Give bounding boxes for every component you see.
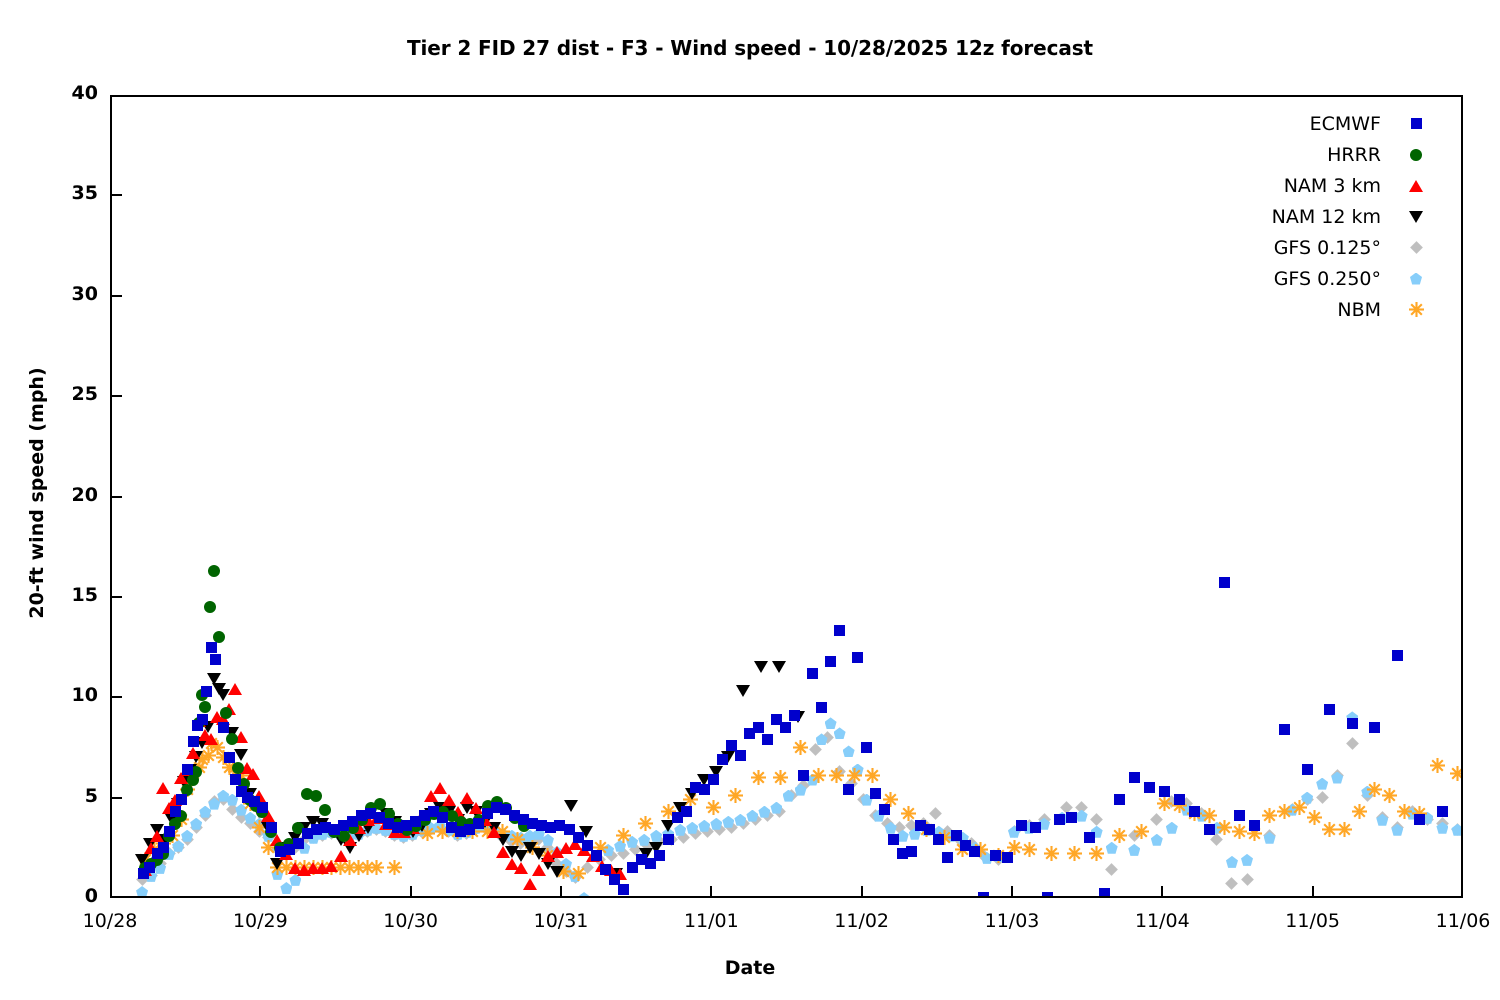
data-point-ecmwf <box>1129 772 1140 783</box>
data-point-nam-12-km <box>772 661 786 673</box>
data-point-gfs-0-125 <box>1090 813 1103 826</box>
data-point-gfs-0-250 <box>190 818 202 830</box>
data-point-gfs-0-125 <box>1316 791 1329 804</box>
x-axis-tick <box>861 886 863 898</box>
x-axis-tick <box>560 886 562 898</box>
data-point-ecmwf <box>699 784 710 795</box>
data-point-nbm <box>1089 846 1104 861</box>
data-point-hrrr <box>226 733 238 745</box>
data-point-ecmwf <box>1302 764 1313 775</box>
data-point-nbm <box>728 788 743 803</box>
data-point-ecmwf <box>1114 794 1125 805</box>
chart-legend: ECMWFHRRRNAM 3 kmNAM 12 kmGFS 0.125°GFS … <box>1150 108 1425 325</box>
data-point-nam-3-km <box>514 862 528 874</box>
data-point-ecmwf <box>708 774 719 785</box>
legend-marker-circle-icon <box>1407 146 1425 164</box>
data-point-ecmwf <box>206 642 217 653</box>
data-point-ecmwf <box>888 834 899 845</box>
data-point-ecmwf <box>188 736 199 747</box>
data-point-nam-3-km <box>442 794 456 806</box>
legend-label: GFS 0.125° <box>1274 237 1407 259</box>
data-point-ecmwf <box>1174 794 1185 805</box>
legend-item-ecmwf[interactable]: ECMWF <box>1150 108 1425 139</box>
data-point-gfs-0-250 <box>674 824 686 836</box>
x-axis-tick <box>1011 886 1013 898</box>
data-point-ecmwf <box>1204 824 1215 835</box>
data-point-nbm <box>1337 822 1352 837</box>
data-point-ecmwf <box>990 850 1001 861</box>
legend-label: NBM <box>1337 299 1407 321</box>
data-point-ecmwf <box>789 710 800 721</box>
data-point-gfs-0-250 <box>698 820 710 832</box>
data-point-ecmwf <box>1144 782 1155 793</box>
data-point-ecmwf <box>1002 852 1013 863</box>
y-axis-tick-label: 15 <box>36 584 98 606</box>
x-axis-tick-label: 10/30 <box>356 910 466 932</box>
data-point-ecmwf <box>969 846 980 857</box>
data-point-gfs-0-250 <box>734 814 746 826</box>
data-point-gfs-0-250 <box>843 745 855 757</box>
data-point-nbm <box>1450 766 1461 781</box>
data-point-nbm <box>1217 820 1232 835</box>
data-point-gfs-0-250 <box>578 892 590 896</box>
data-point-gfs-0-250 <box>825 717 837 729</box>
data-point-ecmwf <box>906 846 917 857</box>
data-point-ecmwf <box>942 852 953 863</box>
data-point-gfs-0-250 <box>746 810 758 822</box>
data-point-hrrr <box>208 565 220 577</box>
data-point-nbm <box>387 860 402 875</box>
data-point-gfs-0-250 <box>1166 822 1178 834</box>
data-point-ecmwf <box>843 784 854 795</box>
data-point-nbm <box>751 770 766 785</box>
data-point-ecmwf <box>879 804 890 815</box>
x-axis-tick-label: 11/03 <box>957 910 1067 932</box>
data-point-nam-12-km <box>234 749 248 761</box>
y-axis-tick-label: 35 <box>36 182 98 204</box>
data-point-nam-3-km <box>186 747 200 759</box>
data-point-ecmwf <box>762 734 773 745</box>
data-point-ecmwf <box>1437 806 1448 817</box>
data-point-gfs-0-250 <box>1151 834 1163 846</box>
data-point-nam-3-km <box>334 850 348 862</box>
legend-label: NAM 12 km <box>1272 206 1407 228</box>
x-axis-tick-label: 11/04 <box>1107 910 1217 932</box>
data-point-nbm <box>369 860 384 875</box>
data-point-ecmwf <box>717 754 728 765</box>
wind-speed-scatter-chart: Tier 2 FID 27 dist - F3 - Wind speed - 1… <box>0 0 1500 1000</box>
y-axis-tick-label: 0 <box>36 885 98 907</box>
data-point-nbm <box>1352 804 1367 819</box>
data-point-ecmwf <box>1159 786 1170 797</box>
data-point-gfs-0-125 <box>1241 874 1254 887</box>
data-point-hrrr <box>220 707 232 719</box>
y-axis-tick <box>110 194 122 196</box>
data-point-gfs-0-125 <box>1105 864 1118 877</box>
data-point-ecmwf <box>933 834 944 845</box>
data-point-nbm <box>865 768 880 783</box>
data-point-gfs-0-250 <box>1128 844 1140 856</box>
data-point-gfs-0-250 <box>280 882 292 894</box>
x-axis-tick-label: 10/31 <box>506 910 616 932</box>
data-point-nam-12-km <box>736 685 750 697</box>
data-point-nbm <box>1067 846 1082 861</box>
data-point-ecmwf <box>807 668 818 679</box>
data-point-ecmwf <box>834 625 845 636</box>
y-axis-tick <box>110 295 122 297</box>
data-point-ecmwf <box>1054 814 1065 825</box>
data-point-ecmwf <box>1042 892 1053 896</box>
data-point-nbm <box>811 768 826 783</box>
data-point-gfs-0-250 <box>199 806 211 818</box>
data-point-nbm <box>1044 846 1059 861</box>
legend-label: NAM 3 km <box>1284 175 1407 197</box>
data-point-nam-3-km <box>523 878 537 890</box>
data-point-ecmwf <box>1030 822 1041 833</box>
data-point-ecmwf <box>1369 722 1380 733</box>
data-point-ecmwf <box>1347 718 1358 729</box>
data-point-ecmwf <box>224 752 235 763</box>
data-point-ecmwf <box>473 818 484 829</box>
data-point-ecmwf <box>1414 814 1425 825</box>
legend-marker-square-icon <box>1407 115 1425 133</box>
legend-item-nam-12-km[interactable]: NAM 12 km <box>1150 201 1425 232</box>
data-point-nbm <box>1022 842 1037 857</box>
data-point-ecmwf <box>218 722 229 733</box>
data-point-nbm <box>1262 808 1277 823</box>
legend-item-gfs-0-125[interactable]: GFS 0.125° <box>1150 232 1425 263</box>
data-point-ecmwf <box>144 862 155 873</box>
x-axis-tick <box>259 886 261 898</box>
data-point-nam-3-km <box>150 830 164 842</box>
data-point-nbm <box>901 806 916 821</box>
data-point-nbm <box>1307 810 1322 825</box>
data-point-nam-3-km <box>469 802 483 814</box>
data-point-nbm <box>1382 788 1397 803</box>
data-point-gfs-0-250 <box>1451 824 1461 836</box>
legend-marker-triangle-down-icon <box>1407 208 1425 226</box>
y-axis-tick <box>110 395 122 397</box>
data-point-gfs-0-125 <box>1346 737 1359 750</box>
data-point-gfs-0-250 <box>1076 810 1088 822</box>
legend-label: HRRR <box>1327 144 1407 166</box>
y-axis-tick-label: 5 <box>36 785 98 807</box>
data-point-gfs-0-250 <box>181 830 193 842</box>
data-point-gfs-0-125 <box>929 807 942 820</box>
chart-title: Tier 2 FID 27 dist - F3 - Wind speed - 1… <box>0 36 1500 60</box>
legend-marker-pentagon-icon <box>1407 270 1425 288</box>
data-point-ecmwf <box>210 654 221 665</box>
data-point-gfs-0-250 <box>758 806 770 818</box>
data-point-gfs-0-125 <box>1150 813 1163 826</box>
x-axis-tick <box>410 886 412 898</box>
data-point-hrrr <box>204 601 216 613</box>
data-point-ecmwf <box>654 850 665 861</box>
data-point-ecmwf <box>1016 820 1027 831</box>
legend-item-gfs-0-250[interactable]: GFS 0.250° <box>1150 263 1425 294</box>
x-axis-tick-label: 10/28 <box>55 910 165 932</box>
data-point-nam-3-km <box>496 846 510 858</box>
data-point-nbm <box>706 800 721 815</box>
x-axis-tick-label: 11/06 <box>1408 910 1500 932</box>
data-point-nam-12-km <box>754 661 768 673</box>
data-point-nam-3-km <box>246 768 260 780</box>
data-point-ecmwf <box>663 834 674 845</box>
legend-label: GFS 0.250° <box>1274 268 1407 290</box>
data-point-ecmwf <box>257 802 268 813</box>
data-point-ecmwf <box>978 892 989 896</box>
data-point-gfs-0-250 <box>1106 842 1118 854</box>
data-point-ecmwf <box>182 764 193 775</box>
data-point-gfs-0-250 <box>834 727 846 739</box>
data-point-ecmwf <box>735 750 746 761</box>
x-axis-tick-label: 10/29 <box>205 910 315 932</box>
data-point-ecmwf <box>852 652 863 663</box>
data-point-ecmwf <box>825 656 836 667</box>
data-point-nam-12-km <box>550 866 564 878</box>
data-point-ecmwf <box>1324 704 1335 715</box>
data-point-nbm <box>1202 808 1217 823</box>
data-point-nbm <box>1134 824 1149 839</box>
y-axis-tick-label: 10 <box>36 684 98 706</box>
data-point-nbm <box>616 828 631 843</box>
data-point-gfs-0-125 <box>1226 878 1239 891</box>
y-axis-tick-label: 40 <box>36 82 98 104</box>
data-point-nbm <box>1430 758 1445 773</box>
data-point-nbm <box>793 740 808 755</box>
legend-item-nam-3-km[interactable]: NAM 3 km <box>1150 170 1425 201</box>
data-point-nbm <box>1322 822 1337 837</box>
data-point-gfs-0-250 <box>1316 778 1328 790</box>
x-axis-tick-label: 11/02 <box>807 910 917 932</box>
data-point-gfs-0-125 <box>1211 833 1224 846</box>
data-point-ecmwf <box>266 822 277 833</box>
data-point-ecmwf <box>753 722 764 733</box>
data-point-nbm <box>638 816 653 831</box>
data-point-nbm <box>571 866 586 881</box>
data-point-ecmwf <box>164 826 175 837</box>
data-point-nam-3-km <box>433 782 447 794</box>
data-point-gfs-0-250 <box>136 886 148 896</box>
data-point-ecmwf <box>1084 832 1095 843</box>
data-point-nbm <box>1277 804 1292 819</box>
data-point-ecmwf <box>158 842 169 853</box>
data-point-ecmwf <box>1279 724 1290 735</box>
data-point-ecmwf <box>1392 650 1403 661</box>
x-axis-tick <box>710 886 712 898</box>
y-axis-tick-label: 30 <box>36 283 98 305</box>
y-axis-tick-label: 20 <box>36 484 98 506</box>
data-point-ecmwf <box>870 788 881 799</box>
x-axis-tick <box>1312 886 1314 898</box>
data-point-nbm <box>1367 782 1382 797</box>
data-point-nam-12-km <box>564 800 578 812</box>
data-point-nbm <box>1157 796 1172 811</box>
data-point-hrrr <box>232 762 244 774</box>
data-point-ecmwf <box>1219 577 1230 588</box>
y-axis-tick <box>110 596 122 598</box>
data-point-gfs-0-250 <box>770 802 782 814</box>
y-axis-tick <box>110 797 122 799</box>
data-point-nam-3-km <box>532 864 546 876</box>
data-point-ecmwf <box>798 770 809 781</box>
data-point-nbm <box>1397 804 1412 819</box>
data-point-nam-3-km <box>228 683 242 695</box>
x-axis-tick <box>1161 886 1163 898</box>
data-point-nbm <box>1112 828 1127 843</box>
data-point-ecmwf <box>591 850 602 861</box>
data-point-gfs-0-250 <box>722 816 734 828</box>
data-point-ecmwf <box>816 702 827 713</box>
x-axis-label: Date <box>0 957 1500 979</box>
x-axis-tick-label: 11/05 <box>1258 910 1368 932</box>
data-point-nbm <box>1292 800 1307 815</box>
data-point-ecmwf <box>230 774 241 785</box>
data-point-ecmwf <box>1234 810 1245 821</box>
y-axis-tick <box>110 496 122 498</box>
x-axis-tick-label: 11/01 <box>656 910 766 932</box>
legend-label: ECMWF <box>1310 113 1407 135</box>
data-point-ecmwf <box>1066 812 1077 823</box>
data-point-nbm <box>773 770 788 785</box>
data-point-ecmwf <box>176 794 187 805</box>
data-point-gfs-0-250 <box>686 822 698 834</box>
data-point-ecmwf <box>681 806 692 817</box>
data-point-ecmwf <box>170 806 181 817</box>
data-point-ecmwf <box>861 742 872 753</box>
legend-item-hrrr[interactable]: HRRR <box>1150 139 1425 170</box>
data-point-ecmwf <box>1099 888 1110 896</box>
data-point-nbm <box>829 768 844 783</box>
data-point-gfs-0-250 <box>1241 854 1253 866</box>
y-axis-tick <box>110 696 122 698</box>
y-axis-tick-label: 25 <box>36 383 98 405</box>
data-point-gfs-0-250 <box>1226 856 1238 868</box>
data-point-ecmwf <box>1249 820 1260 831</box>
legend-marker-triangle-up-icon <box>1407 177 1425 195</box>
data-point-ecmwf <box>618 884 629 895</box>
data-point-hrrr <box>310 790 322 802</box>
data-point-ecmwf <box>1189 806 1200 817</box>
data-point-nbm <box>847 768 862 783</box>
legend-marker-diamond-icon <box>1407 239 1425 257</box>
data-point-ecmwf <box>780 722 791 733</box>
data-point-ecmwf <box>201 686 212 697</box>
data-point-ecmwf <box>293 838 304 849</box>
data-point-hrrr <box>319 804 331 816</box>
data-point-nam-3-km <box>487 826 501 838</box>
data-point-ecmwf <box>197 714 208 725</box>
legend-item-nbm[interactable]: NBM <box>1150 294 1425 325</box>
data-point-nam-3-km <box>204 733 218 745</box>
data-point-gfs-0-250 <box>710 818 722 830</box>
data-point-nam-3-km <box>156 782 170 794</box>
legend-marker-asterisk-icon <box>1407 301 1425 319</box>
data-point-nbm <box>1232 824 1247 839</box>
